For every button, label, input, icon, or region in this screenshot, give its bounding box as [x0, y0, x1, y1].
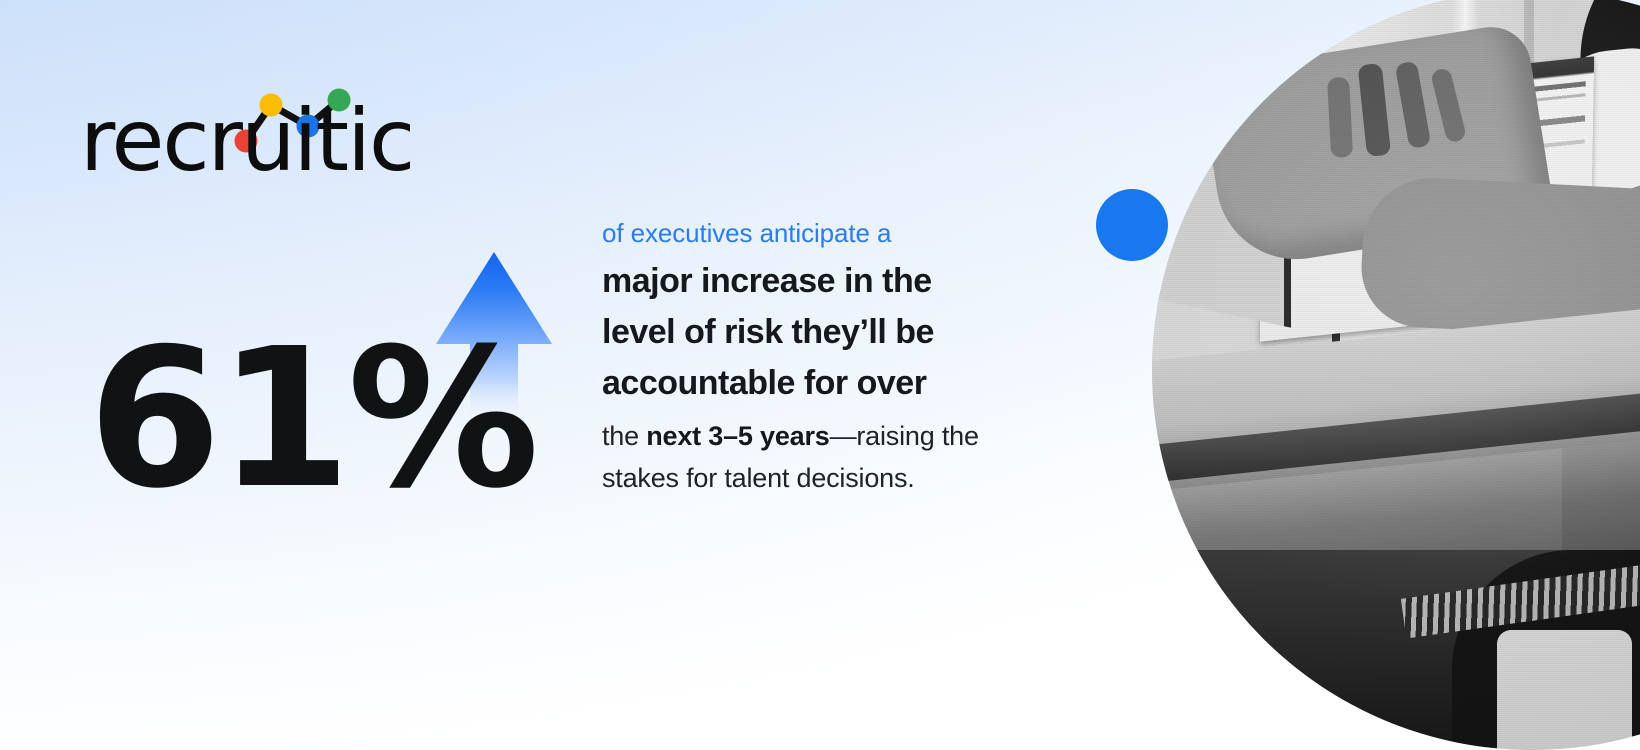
headline-line-1: major increase in the: [602, 262, 932, 300]
photo-vignette: [1152, 0, 1640, 750]
copy-block: of executives anticipate a major increas…: [602, 216, 1054, 499]
headline-line-2: level of risk they’ll be: [602, 313, 934, 351]
copy-eyebrow: of executives anticipate a: [602, 216, 1054, 250]
stat-card: recruitics recruitics 61% o: [0, 0, 1640, 750]
copy-tail-prefix: the: [602, 421, 646, 451]
stat-figure: 61%: [88, 236, 568, 511]
headline-line-3: accountable for over: [602, 364, 926, 402]
copy-headline: major increase in the level of risk they…: [602, 256, 1054, 409]
photo-circle-mask: [1152, 0, 1640, 750]
accent-dot: [1096, 189, 1168, 261]
office-photo: [1152, 0, 1640, 750]
copy-tail-bold: next 3–5 years: [646, 421, 829, 451]
copy-tail: the next 3–5 years—raising the stakes fo…: [602, 415, 1054, 499]
recruitics-logo[interactable]: recruitics: [80, 72, 410, 182]
stat-value: 61%: [88, 324, 536, 516]
logo-wordmark: recruitics: [80, 91, 410, 182]
